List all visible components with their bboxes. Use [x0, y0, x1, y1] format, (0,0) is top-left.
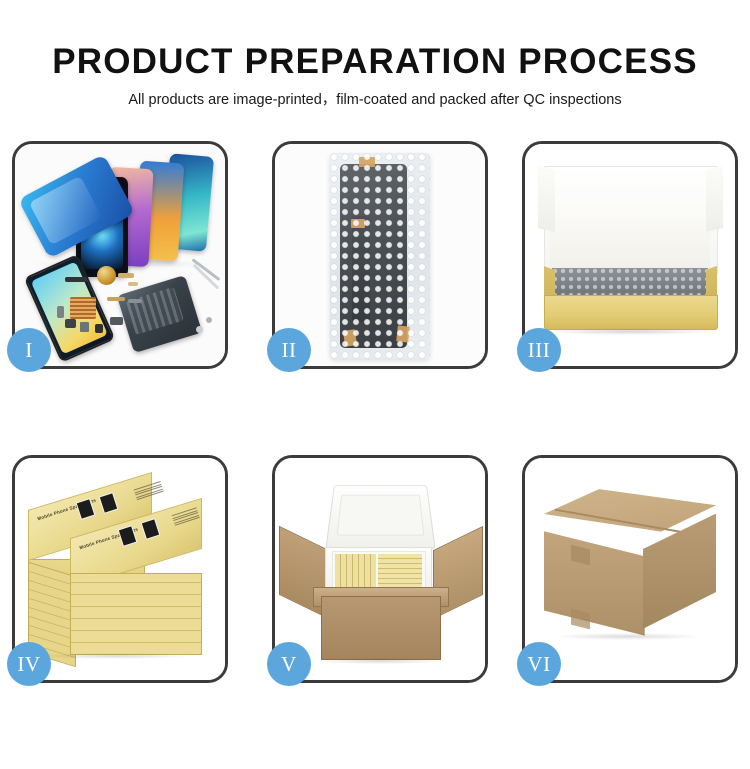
part-connector	[128, 282, 138, 286]
box-flap-right	[706, 167, 723, 233]
step-image-carton-loading	[275, 458, 485, 680]
part-button	[80, 322, 89, 332]
part-sim-tray	[57, 306, 64, 318]
product-preparation-process-infographic: PRODUCT PREPARATION PROCESS All products…	[0, 0, 750, 750]
steps-row-2: Mobile Phone Spare Parts Mobile Phone Sp…	[12, 455, 738, 683]
step-badge-3: III	[517, 328, 561, 372]
step-image-foam-lined-box	[525, 144, 735, 366]
page-title: PRODUCT PREPARATION PROCESS	[0, 44, 750, 79]
steps-grid: I II	[12, 141, 738, 769]
carton-left-face	[544, 531, 645, 635]
step-badge-4: IV	[7, 642, 51, 686]
bubble-wrap-overlay	[330, 153, 431, 359]
part-ribbon	[107, 297, 125, 301]
part-screw-2	[206, 317, 212, 323]
step-card-5[interactable]: V	[272, 455, 488, 683]
step-image-boxed-stack: Mobile Phone Spare Parts Mobile Phone Sp…	[15, 458, 225, 680]
step-badge-5: V	[267, 642, 311, 686]
header: PRODUCT PREPARATION PROCESS All products…	[0, 0, 750, 108]
step-card-3[interactable]: III	[522, 141, 738, 369]
part-flex-cable	[118, 273, 134, 278]
steps-row-1: I II	[12, 141, 738, 369]
part-screw	[196, 326, 203, 333]
step-card-1[interactable]: I	[12, 141, 228, 369]
phone-chassis-open	[117, 275, 203, 353]
box-shadow	[546, 328, 714, 335]
step-image-product-and-parts	[15, 144, 225, 366]
white-foam-pad	[550, 197, 710, 275]
carton-body	[321, 596, 441, 660]
carton-shadow	[317, 658, 443, 664]
part-bracket	[110, 317, 123, 325]
step-image-sealed-carton	[525, 458, 735, 680]
box-flap-left	[538, 167, 555, 233]
part-speaker	[95, 324, 103, 333]
foam-box-lid	[325, 485, 435, 549]
step-card-2[interactable]: II	[272, 141, 488, 369]
copper-grid-part	[70, 297, 96, 319]
carton-tape-lower	[571, 609, 590, 629]
part-strip	[65, 277, 87, 282]
part-antenna	[128, 299, 142, 303]
step-image-bubble-wrap-packing	[275, 144, 485, 366]
step-badge-6: VI	[517, 642, 561, 686]
carton-shadow	[554, 633, 701, 640]
step-card-4[interactable]: Mobile Phone Spare Parts Mobile Phone Sp…	[12, 455, 228, 683]
box-stack-front-edges	[70, 573, 202, 655]
step-badge-1: I	[7, 328, 51, 372]
gold-coil-part	[97, 266, 116, 285]
step-card-6[interactable]: VI	[522, 455, 738, 683]
box-front-panel	[544, 295, 718, 330]
part-module	[65, 319, 76, 328]
step-badge-2: II	[267, 328, 311, 372]
page-subtitle: All products are image-printed，film-coat…	[0, 93, 750, 108]
stack-shadow	[36, 653, 191, 659]
grey-bubble-wrap-contents	[552, 268, 707, 297]
